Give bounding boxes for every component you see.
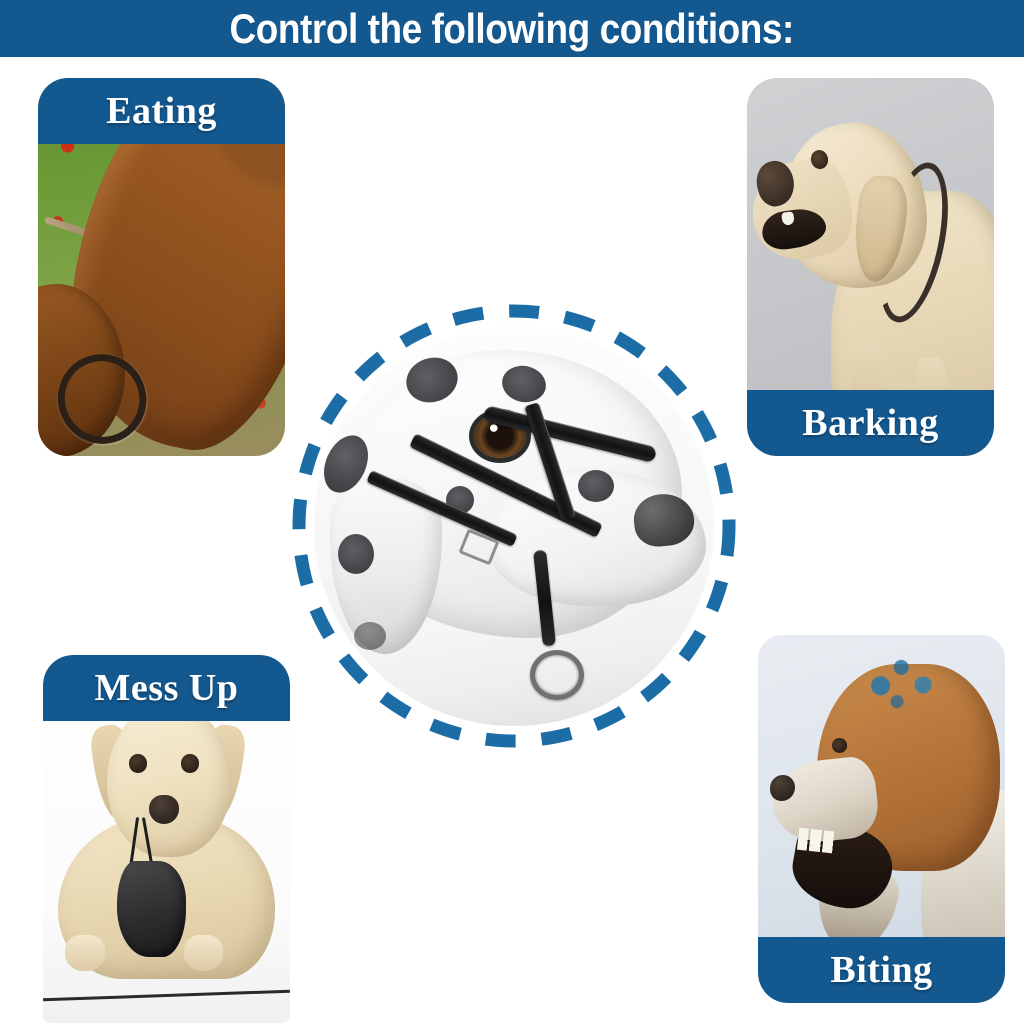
puppy-eye-right [181, 754, 198, 772]
terrier-teeth [796, 828, 843, 855]
card-label-barking: Barking [747, 390, 994, 456]
header-banner: Control the following conditions: [0, 0, 1024, 57]
card-label-biting: Biting [758, 937, 1005, 1003]
hero-product-circle[interactable] [288, 300, 740, 752]
puppy-nose [149, 795, 179, 824]
puppy-head [107, 703, 231, 858]
halter-d-ring [530, 650, 584, 700]
infographic-canvas: Control the following conditions: Eating [0, 0, 1024, 1024]
puppy-eye-left [129, 754, 146, 772]
card-label-mess-up: Mess Up [43, 655, 290, 721]
condition-card-biting[interactable]: Biting [758, 635, 1005, 1003]
condition-card-barking[interactable]: Barking [747, 78, 994, 456]
puppy-paw-left [65, 935, 105, 972]
terrier-nose [770, 775, 795, 801]
photo-dog-head-halter [314, 326, 714, 726]
page-title: Control the following conditions: [230, 6, 794, 52]
card-label-eating: Eating [38, 78, 285, 144]
condition-card-eating[interactable]: Eating [38, 78, 285, 456]
puppy-paw-right [184, 935, 224, 972]
chewed-shoe [117, 861, 186, 957]
dalmatian-spot [338, 534, 374, 574]
dalmatian-spot [578, 470, 614, 502]
dalmatian-spot [354, 622, 386, 650]
condition-card-mess-up[interactable]: Mess Up [43, 655, 290, 1023]
terrier-head-markings [857, 643, 951, 723]
